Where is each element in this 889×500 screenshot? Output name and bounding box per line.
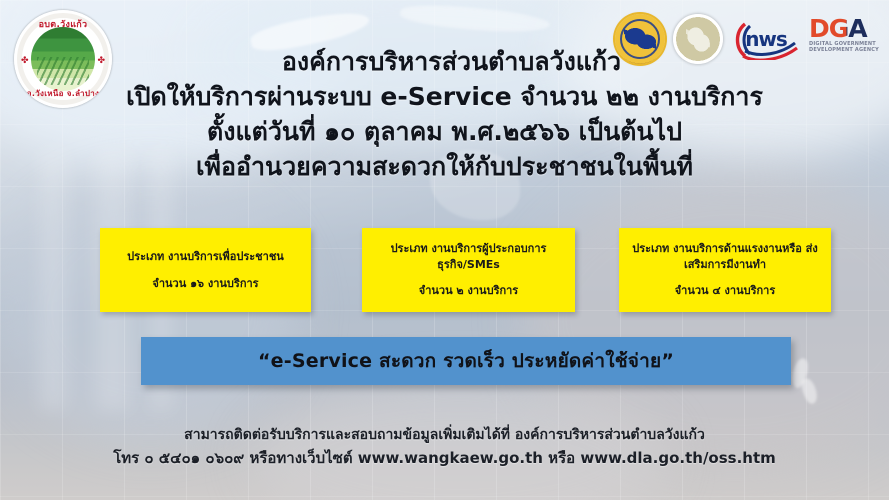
service-card-count: จำนวน ๔ งานบริการ [675,283,776,299]
footer-contact: สามารถติดต่อรับบริการและสอบถามข้อมูลเพิ่… [0,424,889,470]
world-map-silhouette [399,0,550,38]
service-card-citizen: ประเภท งานบริการเพื่อประชาชน จำนวน ๑๖ งา… [100,228,311,312]
nws-wordmark: nws [745,27,787,51]
seal-top-text: อบต.วังแก้ว [14,17,112,31]
service-card-count: จำนวน ๑๖ งานบริการ [152,276,258,292]
world-map-silhouette [799,377,821,406]
service-card-title: ประเภท งานบริการผู้ประกอบการ ธุรกิจ/SMEs [368,241,569,273]
service-card-title: ประเภท งานบริการด้านแรงงานหรือ ส่งเสริมก… [625,241,825,273]
dga-wordmark: DGA [809,16,881,41]
headline-line-4: เพื่ออำนวยความสะดวกให้กับประชาชนในพื้นที… [0,151,889,182]
service-card-count: จำนวน ๒ งานบริการ [419,283,518,299]
slogan-banner: “e-Service สะดวก รวดเร็ว ประหยัดค่าใช้จ่… [141,337,791,385]
headline-line-3: ตั้งแต่วันที่ ๑๐ ตุลาคม พ.ศ.๒๕๖๖ เป็นต้น… [0,116,889,147]
service-card-business-sme: ประเภท งานบริการผู้ประกอบการ ธุรกิจ/SMEs… [362,228,575,312]
service-category-cards: ประเภท งานบริการเพื่อประชาชน จำนวน ๑๖ งา… [0,228,889,312]
footer-line-1: สามารถติดต่อรับบริการและสอบถามข้อมูลเพิ่… [0,424,889,446]
service-card-title: ประเภท งานบริการเพื่อประชาชน [127,249,284,265]
e-service-announcement-poster: อบต.วังแก้ว อ.วังเหนือ จ.ลำปาง ✤ ✤ nws D… [0,0,889,500]
service-card-labor-employment: ประเภท งานบริการด้านแรงงานหรือ ส่งเสริมก… [619,228,831,312]
slogan-text: “e-Service สะดวก รวดเร็ว ประหยัดค่าใช้จ่… [258,346,674,376]
headline-line-2: เปิดให้บริการผ่านระบบ e-Service จำนวน ๒๒… [0,81,889,112]
footer-line-2: โทร ๐ ๕๔๐๑ ๐๖๐๙ หรือทางเว็บไซต์ www.wang… [0,446,889,470]
poster-headline: องค์การบริหารส่วนตำบลวังแก้ว เปิดให้บริก… [0,46,889,182]
